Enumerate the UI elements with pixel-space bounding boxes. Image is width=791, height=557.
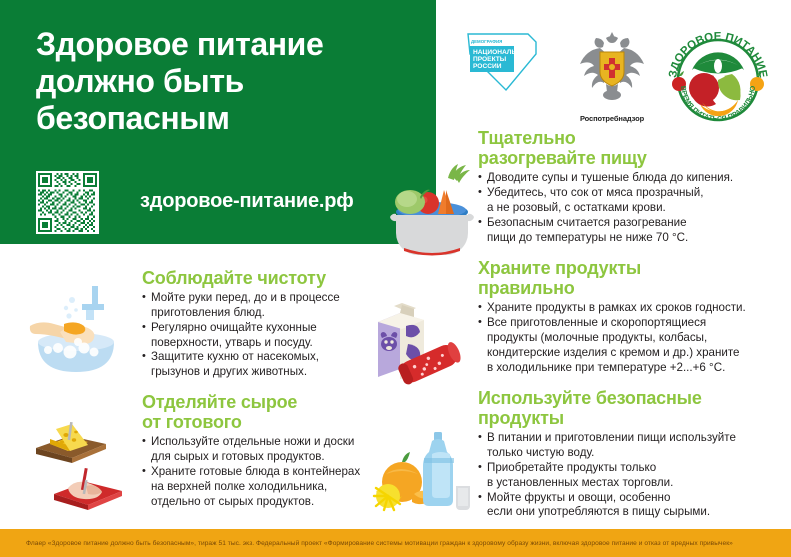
natproj-line-3: РОССИИ	[473, 63, 502, 70]
header-green-panel: Здоровое питание должно быть безопасным	[0, 0, 436, 244]
section-store-title-line-2: правильно	[478, 278, 575, 298]
section-reheat-title: Тщательно разогревайте пищу	[478, 128, 778, 168]
section-safe-products: Используйте безопасные продукты В питани…	[478, 388, 780, 520]
site-url-text[interactable]: здоровое-питание.рф	[140, 190, 354, 213]
headline-line-2: должно быть	[36, 63, 426, 100]
section-cleanliness-title-line-1: Соблюдайте чистоту	[142, 268, 326, 288]
section-store-properly: Храните продукты правильно Храните проду…	[478, 258, 780, 375]
list-item: Доводите супы и тушеные блюда до кипения…	[478, 171, 778, 186]
section-separate-title-line-1: Отделяйте сырое	[142, 392, 297, 412]
section-cleanliness: Соблюдайте чистоту Мойте руки перед, до …	[142, 268, 374, 380]
footer-text: Флаер «Здоровое питание должно быть безо…	[0, 540, 733, 547]
section-store-title: Храните продукты правильно	[478, 258, 780, 298]
section-store-title-line-1: Храните продукты	[478, 258, 641, 278]
section-cleanliness-title: Соблюдайте чистоту	[142, 268, 374, 288]
zdorovoe-pitanie-logo: ЗДОРОВОЕ ПИТАНИЕ ВРЕМЯ ПИТАТЬСЯ ПРАВИЛЬН…	[662, 24, 774, 136]
section-separate-bullets: Используйте отдельные ножи и доскидля сы…	[142, 435, 374, 509]
section-separate-title-line-2: от готового	[142, 412, 242, 432]
section-safe-title-line-2: продукты	[478, 408, 564, 428]
list-item: Храните продукты в рамках их сроков годн…	[478, 301, 780, 316]
double-headed-eagle-icon	[566, 26, 658, 108]
section-safe-title-line-1: Используйте безопасные	[478, 388, 702, 408]
list-item: В питании и приготовлении пищи используй…	[478, 431, 780, 461]
section-cleanliness-bullets: Мойте руки перед, до и в процессепригото…	[142, 291, 374, 380]
section-safe-title: Используйте безопасные продукты	[478, 388, 780, 428]
list-item: Храните готовые блюда в контейнерахна ве…	[142, 465, 374, 509]
list-item: Все приготовленные и скоропортящиесяпрод…	[478, 316, 780, 375]
headline-line-3: безопасным	[36, 100, 426, 137]
washing-hands-illustration	[24, 282, 134, 382]
national-projects-logo: ДЕМОГРАФИЯ НАЦИОНАЛЬНЫЕ ПРОЕКТЫ РОССИИ	[466, 32, 538, 94]
natproj-line-2: ПРОЕКТЫ	[473, 56, 507, 63]
milk-carton-and-sausage-illustration	[368, 300, 472, 388]
cooking-pot-with-vegetables-illustration	[376, 160, 480, 256]
section-reheat-title-line-2: разогревайте пищу	[478, 148, 647, 168]
section-reheat-title-line-1: Тщательно	[478, 128, 576, 148]
section-reheat-bullets: Доводите супы и тушеные блюда до кипения…	[478, 171, 778, 245]
section-store-bullets: Храните продукты в рамках их сроков годн…	[478, 301, 780, 375]
water-bottle-with-fruits-illustration	[372, 424, 472, 518]
logos-row: ДЕМОГРАФИЯ НАЦИОНАЛЬНЫЕ ПРОЕКТЫ РОССИИ	[466, 24, 776, 128]
cutting-boards-raw-and-cooked-illustration	[28, 420, 138, 520]
list-item: Мойте руки перед, до и в процессепригото…	[142, 291, 374, 321]
poster-root: Здоровое питание должно быть безопасным	[0, 0, 791, 557]
footer-bar: Флаер «Здоровое питание должно быть безо…	[0, 529, 791, 557]
section-separate-title: Отделяйте сырое от готового	[142, 392, 374, 432]
list-item: Безопасным считается разогреваниепищи до…	[478, 216, 778, 246]
list-item: Используйте отдельные ножи и доскидля сы…	[142, 435, 374, 465]
headline-line-1: Здоровое питание	[36, 26, 426, 63]
rospotrebnadzor-caption: Роспотребнадзор	[566, 114, 658, 123]
section-reheat: Тщательно разогревайте пищу Доводите суп…	[478, 128, 778, 245]
qr-code-icon	[38, 173, 97, 232]
list-item: Защитите кухню от насекомых,грызунов и д…	[142, 350, 374, 380]
rospotrebnadzor-logo: Роспотребнадзор	[566, 26, 658, 122]
page-title: Здоровое питание должно быть безопасным	[36, 26, 426, 137]
list-item: Приобретайте продукты тольков установлен…	[478, 461, 780, 491]
qr-code[interactable]	[36, 171, 99, 234]
natproj-line-1: НАЦИОНАЛЬНЫЕ	[473, 49, 532, 56]
section-safe-bullets: В питании и приготовлении пищи используй…	[478, 431, 780, 520]
list-item: Регулярно очищайте кухонныеповерхности, …	[142, 321, 374, 351]
list-item: Мойте фрукты и овощи, особенноесли они у…	[478, 491, 780, 521]
section-separate-raw-cooked: Отделяйте сырое от готового Используйте …	[142, 392, 374, 509]
natproj-demografiya-label: ДЕМОГРАФИЯ	[471, 39, 502, 44]
list-item: Убедитесь, что сок от мяса прозрачный,а …	[478, 186, 778, 216]
